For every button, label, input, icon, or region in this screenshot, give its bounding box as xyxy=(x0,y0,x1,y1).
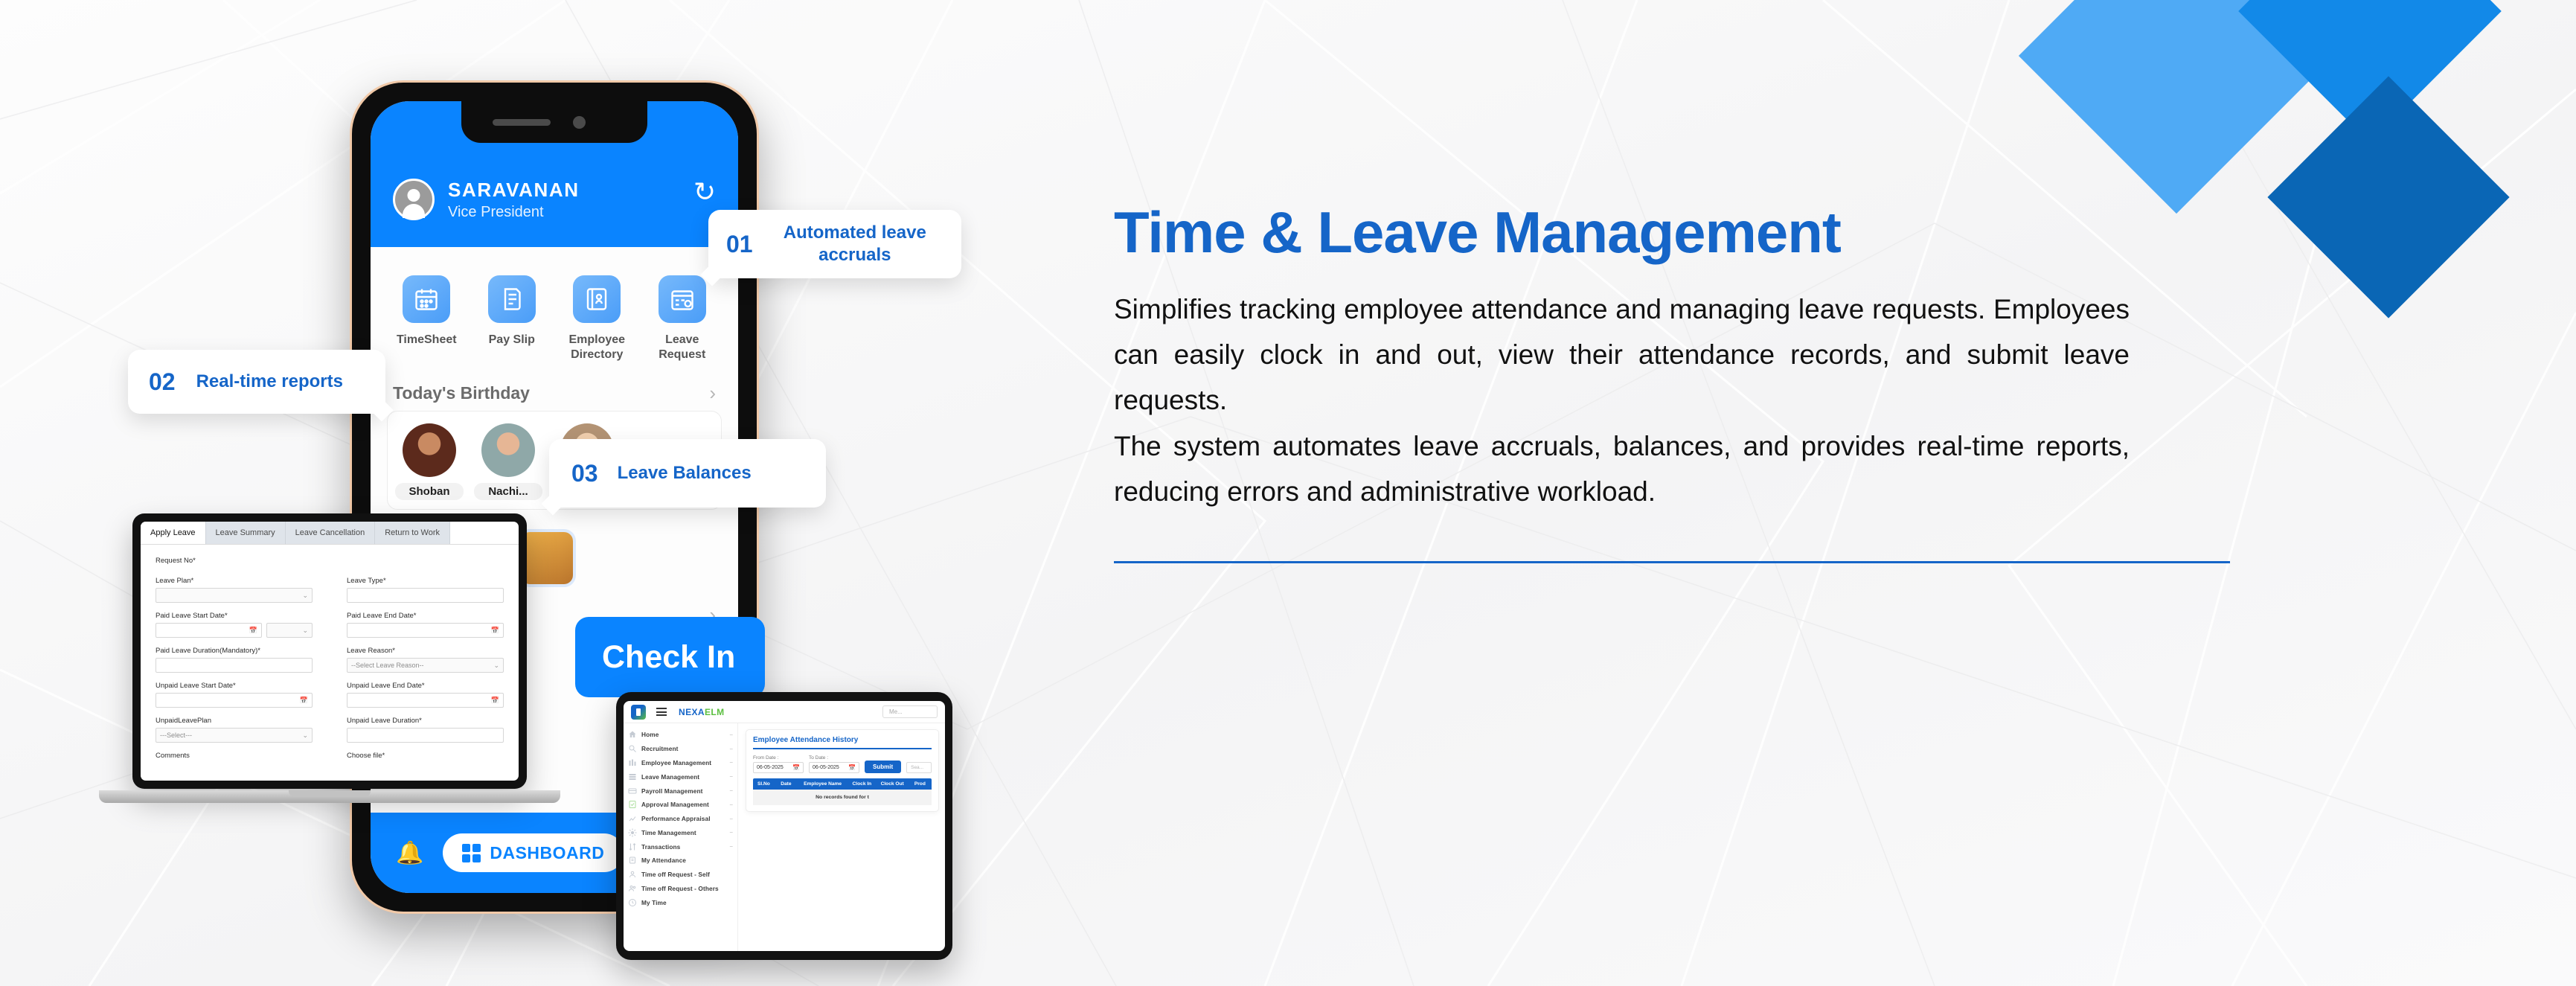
card-title: Employee Attendance History xyxy=(753,736,932,749)
field-label: Leave Reason* xyxy=(347,647,504,655)
time-icon xyxy=(628,828,637,837)
attendance-history-card: Employee Attendance History From Date : … xyxy=(746,729,939,812)
unpaid-leave-plan-field: UnpaidLeavePlan ---Select--- ⌄ xyxy=(156,717,313,743)
sidebar-item-recruitment[interactable]: Recruitment − xyxy=(624,742,737,756)
submit-button[interactable]: Submit xyxy=(865,761,901,773)
paid-leave-duration-input[interactable] xyxy=(156,658,313,673)
callout-number: 03 xyxy=(571,460,598,487)
calendar-icon: 📅 xyxy=(491,627,499,635)
user-name: SARAVANAN xyxy=(448,179,580,202)
calendar-icon: 📅 xyxy=(792,764,800,771)
paid-leave-start-field: Paid Leave Start Date* 📅 ⌄ xyxy=(156,612,313,638)
birthday-title: Today's Birthday xyxy=(393,383,530,403)
hero-text-column: Time & Leave Management Simplifies track… xyxy=(1114,201,2230,563)
sidebar-item-timeoff-self[interactable]: Time off Request - Self xyxy=(624,868,737,882)
field-label: Choose file* xyxy=(347,752,504,760)
unpaid-leave-end-field: Unpaid Leave End Date* 📅 xyxy=(347,682,504,708)
unpaid-leave-duration-input[interactable] xyxy=(347,728,504,743)
hero-paragraph-2: The system automates leave accruals, bal… xyxy=(1114,424,2130,514)
approval-icon xyxy=(628,800,637,809)
calendar-icon xyxy=(403,275,450,323)
unpaid-leave-start-field: Unpaid Leave Start Date* 📅 xyxy=(156,682,313,708)
app-label: TimeSheet xyxy=(389,333,464,348)
person-name: Shoban xyxy=(395,483,464,500)
laptop-body: Apply Leave Leave Summary Leave Cancella… xyxy=(132,513,527,789)
column-header: Clock Out xyxy=(877,778,909,790)
leave-type-input[interactable] xyxy=(347,588,504,603)
sidebar-item-label: Time off Request - Others xyxy=(641,885,719,892)
chevron-down-icon: ⌄ xyxy=(302,732,308,740)
tablet-topbar: NEXAELM Me... xyxy=(624,701,945,723)
column-header: Clock In xyxy=(848,778,876,790)
sidebar-item-home[interactable]: Home − xyxy=(624,728,737,742)
column-header: Employee Name xyxy=(798,778,848,790)
sidebar-item-label: My Time xyxy=(641,899,667,906)
leave-reason-select[interactable]: --Select Leave Reason-- ⌄ xyxy=(347,658,504,673)
apply-leave-form: Request No* Leave Plan* ⌄ Leave Type* xyxy=(141,545,519,775)
sidebar-item-label: Recruitment xyxy=(641,745,679,752)
home-icon xyxy=(628,730,637,739)
page-title: Time & Leave Management xyxy=(1114,201,2230,263)
list-item[interactable]: Nachi... xyxy=(474,423,542,500)
avatar xyxy=(481,423,535,477)
field-label: Paid Leave Start Date* xyxy=(156,612,313,620)
timeoff-others-icon xyxy=(628,884,637,893)
grid-icon xyxy=(462,844,481,862)
check-in-button[interactable]: Check In xyxy=(575,617,765,697)
brand-nexa: NEXA xyxy=(679,707,705,717)
clock-icon xyxy=(628,898,637,907)
sidebar-item-performance-appraisal[interactable]: Performance Appraisal − xyxy=(624,812,737,826)
tablet-main-content: Employee Attendance History From Date : … xyxy=(738,723,945,951)
phone-camera xyxy=(573,116,586,129)
chevron-down-icon: − xyxy=(729,829,733,836)
sidebar-item-employee-management[interactable]: Employee Management − xyxy=(624,756,737,770)
attendance-table: Sl.No Date Employee Name Clock In Clock … xyxy=(753,778,932,805)
bell-icon[interactable]: 🔔 xyxy=(396,840,423,866)
device-mockup-group: SARAVANAN Vice President ↻ Time xyxy=(0,0,1042,986)
employee-icon xyxy=(628,758,637,767)
hero-paragraph-1: Simplifies tracking employee attendance … xyxy=(1114,287,2130,423)
payslip-icon xyxy=(488,275,536,323)
chevron-down-icon: ⌄ xyxy=(302,592,308,600)
timeoff-self-icon xyxy=(628,870,637,879)
laptop-mockup: Apply Leave Leave Summary Leave Cancella… xyxy=(99,513,560,826)
from-date-input[interactable]: 06-05-2025 📅 xyxy=(753,762,804,773)
nexaelm-logo-icon xyxy=(631,705,646,720)
list-item[interactable]: Shoban xyxy=(395,423,464,500)
leave-calendar-icon xyxy=(659,275,706,323)
sidebar-item-my-time[interactable]: My Time xyxy=(624,895,737,909)
app-label: Leave Request xyxy=(645,333,720,362)
sidebar-item-my-attendance[interactable]: My Attendance xyxy=(624,854,737,868)
sidebar-item-approval-management[interactable]: Approval Management − xyxy=(624,798,737,812)
tab-leave-cancellation[interactable]: Leave Cancellation xyxy=(286,522,376,544)
sidebar-item-label: Approval Management xyxy=(641,801,709,808)
callout-number: 01 xyxy=(726,231,753,258)
divider xyxy=(1114,561,2230,563)
chevron-down-icon: − xyxy=(729,843,733,850)
callout-label: Automated leave accruals xyxy=(766,222,943,266)
user-role: Vice President xyxy=(448,204,580,221)
chevron-down-icon: − xyxy=(729,746,733,752)
leave-reason-field: Leave Reason* --Select Leave Reason-- ⌄ xyxy=(347,647,504,673)
app-label: Pay Slip xyxy=(475,333,549,348)
brand-elm: ELM xyxy=(705,707,725,717)
laptop-trackpad-notch xyxy=(289,790,371,797)
paid-leave-end-input[interactable]: 📅 xyxy=(347,623,504,638)
paid-leave-start-half-select[interactable]: ⌄ xyxy=(266,623,313,638)
sidebar-item-timeoff-others[interactable]: Time off Request - Others xyxy=(624,882,737,896)
sidebar-item-label: Payroll Management xyxy=(641,787,703,795)
unpaid-leave-duration-field: Unpaid Leave Duration* xyxy=(347,717,504,743)
tablet-sidebar: Home − Recruitment − Employee Management… xyxy=(624,723,738,951)
sidebar-item-label: My Attendance xyxy=(641,857,686,864)
to-date-group: To Date : 06-05-2025 📅 xyxy=(809,755,859,773)
chevron-right-icon[interactable]: › xyxy=(709,382,716,405)
attendance-icon xyxy=(628,856,637,865)
avatar xyxy=(403,423,456,477)
performance-icon xyxy=(628,814,637,823)
payroll-icon xyxy=(628,787,637,795)
sidebar-item-leave-management[interactable]: Leave Management − xyxy=(624,769,737,784)
table-empty-message: No records found for t xyxy=(753,790,932,805)
comments-field: Comments xyxy=(156,752,313,763)
choose-file-field: Choose file* xyxy=(347,752,504,763)
unpaid-leave-plan-select[interactable]: ---Select--- ⌄ xyxy=(156,728,313,743)
sidebar-item-label: Employee Management xyxy=(641,759,711,766)
app-shortcut-timesheet[interactable]: TimeSheet xyxy=(389,275,464,362)
birthday-section-header: Today's Birthday › xyxy=(371,362,738,411)
sidebar-item-label: Time off Request - Self xyxy=(641,871,710,878)
chevron-down-icon: ⌄ xyxy=(493,662,499,670)
avatar xyxy=(393,179,435,220)
field-value: --Select Leave Reason-- xyxy=(351,662,424,669)
callout-label: Leave Balances xyxy=(618,462,752,484)
dashboard-label: DASHBOARD xyxy=(490,843,604,863)
app-shortcut-grid: TimeSheet Pay Slip xyxy=(371,247,738,362)
chevron-down-icon: − xyxy=(729,816,733,822)
user-info: SARAVANAN Vice President xyxy=(448,179,580,221)
sidebar-item-label: Performance Appraisal xyxy=(641,815,711,822)
brand-name: NEXAELM xyxy=(679,707,724,717)
column-header: Sl.No xyxy=(753,778,775,790)
unpaid-leave-end-input[interactable]: 📅 xyxy=(347,693,504,708)
tablet-screen: NEXAELM Me... Home − Recruitment − xyxy=(624,701,945,951)
leave-icon xyxy=(628,772,637,781)
transactions-icon xyxy=(628,842,637,851)
tab-return-to-work[interactable]: Return to Work xyxy=(375,522,450,544)
field-label: Unpaid Leave Duration* xyxy=(347,717,504,725)
sidebar-item-transactions[interactable]: Transactions − xyxy=(624,839,737,854)
tab-apply-leave[interactable]: Apply Leave xyxy=(141,522,206,544)
directory-icon xyxy=(573,275,621,323)
phone-notch xyxy=(461,101,647,143)
column-header: Prod xyxy=(909,778,932,790)
callout-number: 02 xyxy=(149,368,176,396)
app-label: Employee Directory xyxy=(560,333,634,362)
sidebar-item-label: Leave Management xyxy=(641,773,699,781)
tab-leave-summary[interactable]: Leave Summary xyxy=(206,522,286,544)
field-value: ---Select--- xyxy=(160,732,192,739)
field-label: Unpaid Leave Start Date* xyxy=(156,682,313,690)
callout-badge-03: 03 Leave Balances xyxy=(549,439,826,508)
field-label: Comments xyxy=(156,752,313,760)
app-shortcut-leave-request[interactable]: Leave Request xyxy=(645,275,720,362)
sidebar-item-label: Time Management xyxy=(641,829,696,836)
calendar-icon: 📅 xyxy=(848,764,856,771)
sidebar-item-payroll-management[interactable]: Payroll Management − xyxy=(624,784,737,798)
leave-type-field: Leave Type* xyxy=(347,577,504,603)
from-date-value: 06-05-2025 xyxy=(757,765,784,770)
calendar-icon: 📅 xyxy=(249,627,257,635)
person-name: Nachi... xyxy=(474,483,542,500)
field-label: Request No* xyxy=(156,557,504,565)
table-header-row: Sl.No Date Employee Name Clock In Clock … xyxy=(753,778,932,790)
field-label: Unpaid Leave End Date* xyxy=(347,682,504,690)
refresh-icon[interactable]: ↻ xyxy=(693,179,716,205)
field-label: Leave Plan* xyxy=(156,577,313,585)
to-date-value: 06-05-2025 xyxy=(813,765,839,770)
chevron-down-icon: − xyxy=(729,732,733,738)
field-label: UnpaidLeavePlan xyxy=(156,717,313,725)
table-search-input[interactable]: Sea... xyxy=(906,762,932,773)
sidebar-item-time-management[interactable]: Time Management − xyxy=(624,825,737,839)
leave-plan-select[interactable]: ⌄ xyxy=(156,588,313,603)
tablet-body: Home − Recruitment − Employee Management… xyxy=(624,723,945,951)
callout-badge-02: 02 Real-time reports xyxy=(128,350,385,414)
callout-badge-01: 01 Automated leave accruals xyxy=(708,210,961,278)
tablet-mockup: NEXAELM Me... Home − Recruitment − xyxy=(616,692,952,960)
sidebar-item-label: Home xyxy=(641,731,659,738)
recruitment-icon xyxy=(628,744,637,753)
chevron-down-icon: − xyxy=(729,801,733,808)
sidebar-item-label: Transactions xyxy=(641,843,680,851)
chevron-down-icon: − xyxy=(729,773,733,780)
chevron-down-icon: − xyxy=(729,759,733,766)
paid-leave-duration-field: Paid Leave Duration(Mandatory)* xyxy=(156,647,313,673)
app-shortcut-directory[interactable]: Employee Directory xyxy=(560,275,634,362)
header-search-input[interactable]: Me... xyxy=(882,705,938,718)
field-label: Paid Leave Duration(Mandatory)* xyxy=(156,647,313,655)
field-label: Leave Type* xyxy=(347,577,504,585)
callout-label: Real-time reports xyxy=(196,371,343,393)
chevron-down-icon: − xyxy=(729,787,733,794)
field-label: Paid Leave End Date* xyxy=(347,612,504,620)
leave-tabs: Apply Leave Leave Summary Leave Cancella… xyxy=(141,522,519,545)
request-no-field: Request No* xyxy=(156,557,504,568)
paid-leave-start-input[interactable]: 📅 xyxy=(156,623,262,638)
hamburger-icon[interactable] xyxy=(656,708,667,716)
to-date-label: To Date : xyxy=(809,755,859,761)
column-header: Date xyxy=(775,778,798,790)
to-date-input[interactable]: 06-05-2025 📅 xyxy=(809,762,859,773)
phone-speaker xyxy=(493,119,551,126)
calendar-icon: 📅 xyxy=(491,697,499,705)
leave-plan-field: Leave Plan* ⌄ xyxy=(156,577,313,603)
laptop-screen: Apply Leave Leave Summary Leave Cancella… xyxy=(141,522,519,781)
paid-leave-end-field: Paid Leave End Date* 📅 xyxy=(347,612,504,638)
chevron-down-icon: ⌄ xyxy=(302,627,308,635)
from-date-group: From Date : 06-05-2025 📅 xyxy=(753,755,804,773)
filter-bar: From Date : 06-05-2025 📅 To Date : 06-05… xyxy=(753,755,932,773)
from-date-label: From Date : xyxy=(753,755,804,761)
app-shortcut-payslip[interactable]: Pay Slip xyxy=(475,275,549,362)
calendar-icon: 📅 xyxy=(300,697,308,705)
unpaid-leave-start-input[interactable]: 📅 xyxy=(156,693,313,708)
dashboard-button[interactable]: DASHBOARD xyxy=(443,833,624,872)
